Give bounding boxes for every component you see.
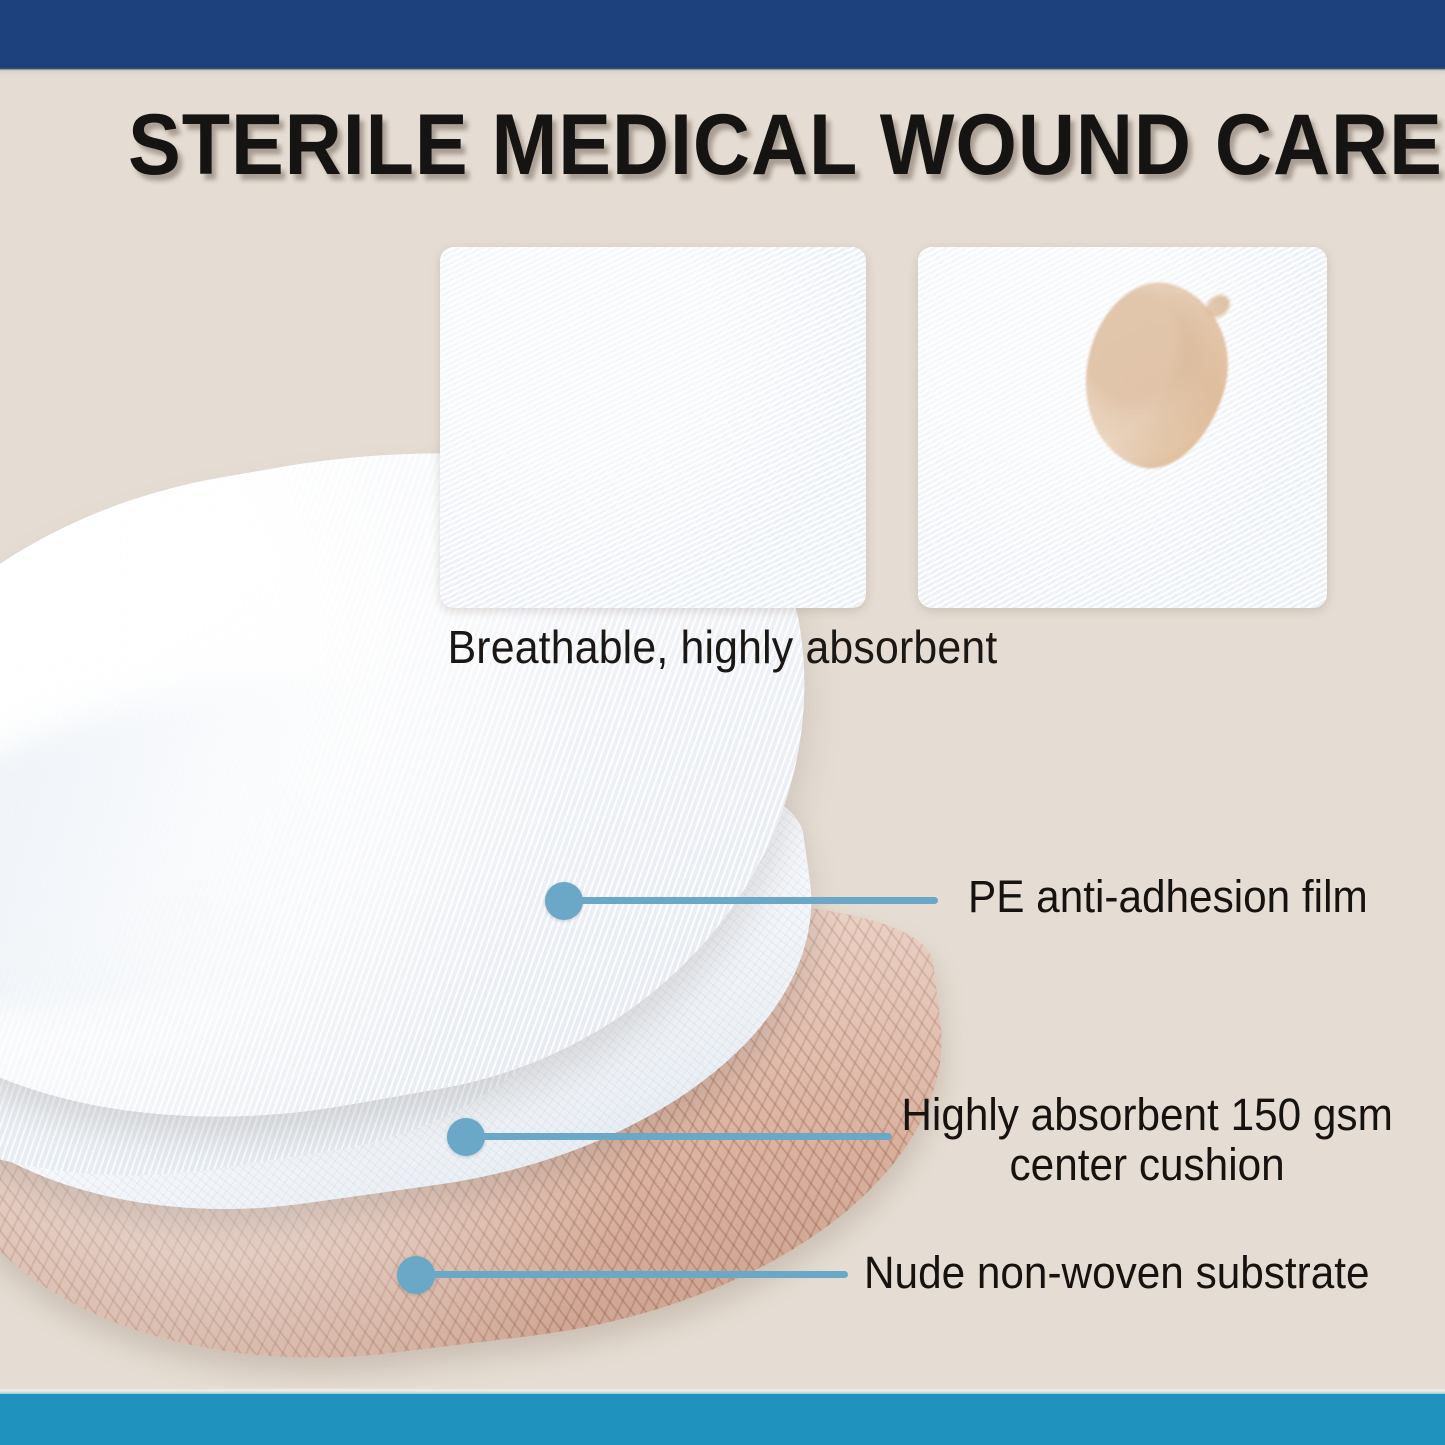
photo-gloss bbox=[440, 247, 866, 608]
dry-pad-photo bbox=[440, 247, 866, 608]
top-brand-bar bbox=[0, 0, 1445, 68]
inset-caption: Breathable, highly absorbent bbox=[51, 620, 1395, 674]
callout-label-nude-substrate: Nude non-woven substrate bbox=[864, 1248, 1370, 1298]
product-infographic: STERILE MEDICAL WOUND CARE Breathable, h… bbox=[0, 0, 1445, 1445]
absorbed-fluid-photo bbox=[918, 247, 1327, 608]
callout-label-center-cushion: Highly absorbent 150 gsm center cushion bbox=[898, 1090, 1396, 1191]
photo-gloss bbox=[918, 247, 1327, 608]
callout-leader-line bbox=[480, 1133, 892, 1140]
top-bar-edge bbox=[0, 68, 1445, 72]
callout-leader-line bbox=[430, 1271, 848, 1278]
callout-label-line-1: Highly absorbent 150 gsm bbox=[898, 1090, 1396, 1140]
inset-caption-text: Breathable, highly absorbent bbox=[448, 620, 998, 674]
callout-label-pe-film: PE anti-adhesion film bbox=[968, 872, 1368, 922]
page-title: STERILE MEDICAL WOUND CARE bbox=[128, 102, 1260, 188]
callout-leader-line bbox=[578, 897, 938, 904]
bottom-brand-bar bbox=[0, 1394, 1445, 1445]
callout-label-line-2: center cushion bbox=[898, 1140, 1396, 1190]
